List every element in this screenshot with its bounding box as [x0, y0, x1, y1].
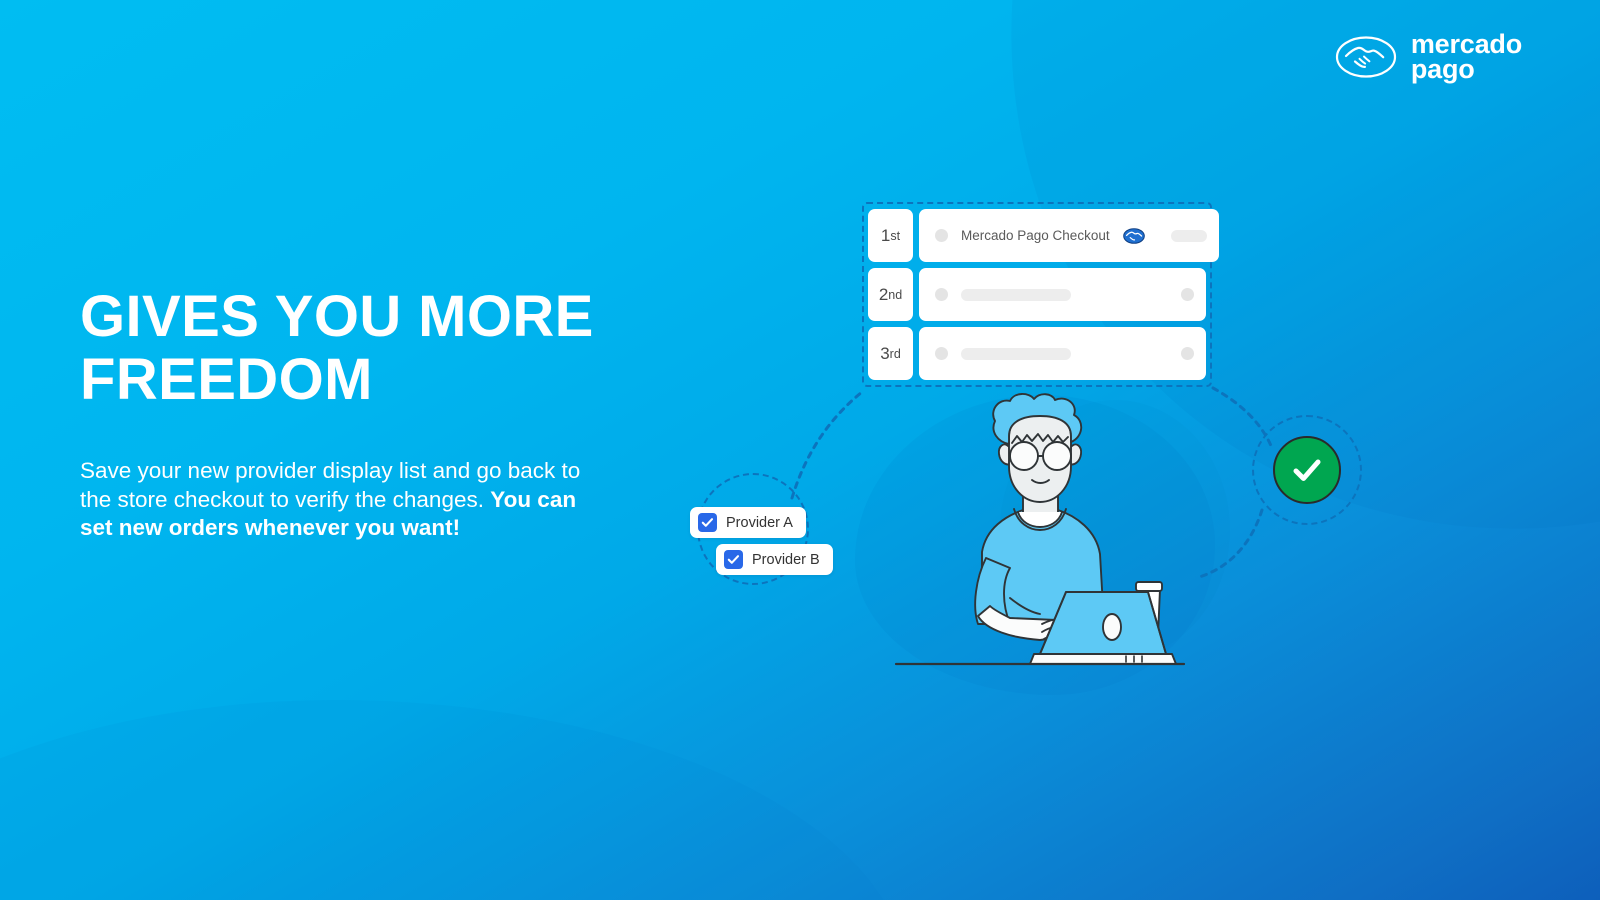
checkbox-label-provider-b: Provider B — [752, 552, 820, 568]
rank-suffix: rd — [890, 347, 901, 361]
value-placeholder-dot-icon — [1181, 347, 1194, 360]
rank-badge: 3rd — [868, 327, 913, 380]
rank-number: 2 — [879, 285, 888, 305]
handshake-oval-icon — [1335, 34, 1397, 80]
checkbox-provider-b[interactable] — [724, 550, 743, 569]
checkbox-label-provider-a: Provider A — [726, 515, 793, 531]
promo-banner: mercado pago GIVES YOU MORE FREEDOM Save… — [0, 0, 1600, 900]
connector-providers-to-list — [792, 392, 862, 498]
list-item[interactable]: 1st Mercado Pago Checkout — [868, 209, 1206, 262]
rank-number: 1 — [881, 226, 890, 246]
list-item-label: Mercado Pago Checkout — [961, 228, 1110, 243]
mercado-pago-handshake-icon — [1123, 228, 1145, 244]
headline-line-1: GIVES YOU MORE — [80, 284, 594, 349]
list-item[interactable]: 2nd — [868, 268, 1206, 321]
value-placeholder — [1171, 230, 1207, 242]
body-copy: Save your new provider display list and … — [80, 457, 590, 543]
logo-wordmark: mercado pago — [1411, 32, 1522, 82]
label-placeholder — [961, 289, 1071, 301]
list-item[interactable]: 3rd — [868, 327, 1206, 380]
status-badge — [1273, 436, 1341, 504]
rank-badge: 1st — [868, 209, 913, 262]
provider-display-list-panel[interactable]: 1st Mercado Pago Checkout 2nd — [862, 202, 1212, 387]
check-circle-icon — [1287, 450, 1327, 490]
list-item-body[interactable]: Mercado Pago Checkout — [919, 209, 1219, 262]
copy-block: GIVES YOU MORE FREEDOM Save your new pro… — [80, 286, 700, 543]
rank-badge: 2nd — [868, 268, 913, 321]
person-at-laptop-illustration — [890, 392, 1190, 667]
rank-number: 3 — [880, 344, 889, 364]
checkbox-row-provider-b[interactable]: Provider B — [716, 544, 833, 575]
logo-word-line2: pago — [1411, 57, 1522, 82]
check-icon — [701, 516, 714, 529]
drag-handle-dot-icon[interactable] — [935, 347, 948, 360]
rank-suffix: st — [890, 229, 900, 243]
background-blob-bottom — [0, 700, 910, 900]
headline-line-2: FREEDOM — [80, 347, 373, 412]
page-title: GIVES YOU MORE FREEDOM — [80, 286, 700, 411]
value-placeholder-dot-icon — [1181, 288, 1194, 301]
drag-handle-dot-icon[interactable] — [935, 288, 948, 301]
connector-success-to-illustration — [1196, 510, 1262, 578]
list-item-body[interactable] — [919, 268, 1206, 321]
mercado-pago-logo: mercado pago — [1335, 32, 1522, 82]
list-item-body[interactable] — [919, 327, 1206, 380]
drag-handle-dot-icon[interactable] — [935, 229, 948, 242]
label-placeholder — [961, 348, 1071, 360]
rank-suffix: nd — [888, 288, 902, 302]
checkbox-provider-a[interactable] — [698, 513, 717, 532]
check-icon — [727, 553, 740, 566]
checkbox-row-provider-a[interactable]: Provider A — [690, 507, 806, 538]
